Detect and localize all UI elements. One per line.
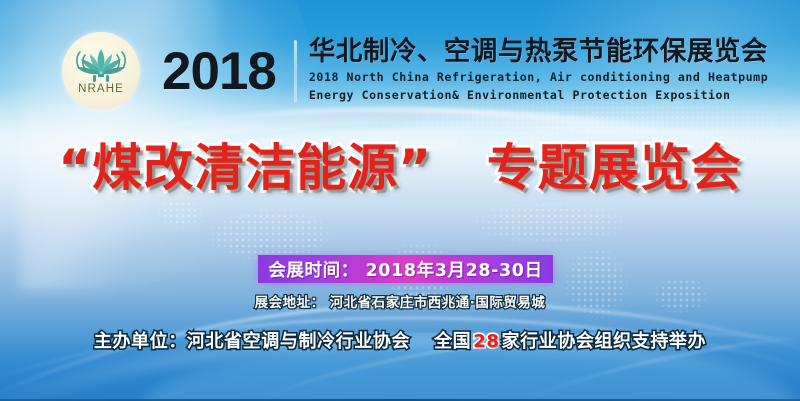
exhibition-title-en-line1: 2018 North China Refrigeration, Air cond… — [309, 70, 768, 85]
exhibition-title-cn: 华北制冷、空调与热泵节能环保展览会 — [309, 38, 768, 67]
organizer-name: 河北省空调与制冷行业协会 — [187, 331, 410, 352]
venue-address: 展会地址： 河北省石家庄市西兆通·国际贸易城 — [0, 291, 800, 311]
main-headline: “煤改清洁能源” 专题展览会 — [0, 143, 800, 193]
date-badge-text: 会展时间： 2018年3月28-30日 — [268, 257, 542, 282]
banner-header: NRAHE 2018 华北制冷、空调与热泵节能环保展览会 2018 North … — [0, 30, 800, 112]
headline-quoted-part: “煤改清洁能源” — [58, 139, 432, 197]
logo-acronym: NRAHE — [62, 83, 140, 95]
organizer-line: 主办单位：河北省空调与制冷行业协会全国28家行业协会组织支持举办 — [0, 327, 800, 353]
support-suffix: 家行业协会组织支持举办 — [502, 331, 707, 352]
support-count: 28 — [473, 331, 499, 352]
nrahe-logo: NRAHE — [62, 32, 140, 110]
support-prefix: 全国 — [434, 331, 471, 352]
year-label: 2018 — [162, 45, 276, 98]
header-divider — [294, 40, 297, 103]
exhibition-title-en-line2: Energy Conservation& Environmental Prote… — [309, 88, 768, 103]
headline-suffix-part: 专题展览会 — [487, 139, 742, 197]
exhibition-banner: NRAHE 2018 华北制冷、空调与热泵节能环保展览会 2018 North … — [0, 0, 800, 401]
date-badge: 会展时间： 2018年3月28-30日 — [258, 255, 553, 283]
organizer-label: 主办单位： — [94, 331, 187, 352]
header-title-group: 华北制冷、空调与热泵节能环保展览会 2018 North China Refri… — [309, 38, 768, 103]
